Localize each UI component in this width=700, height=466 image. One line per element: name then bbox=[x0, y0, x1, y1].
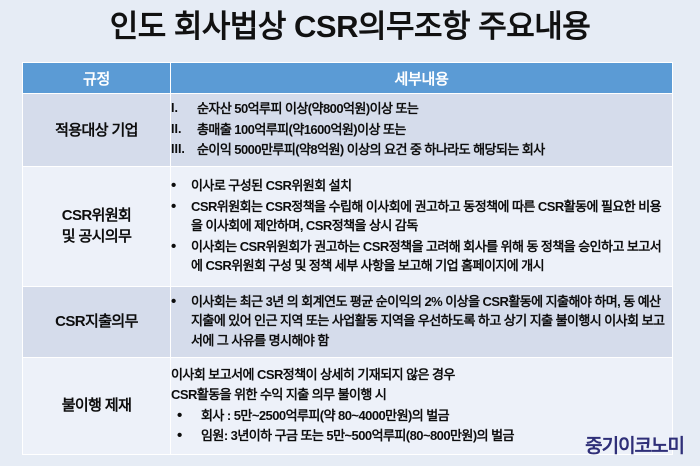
slide-canvas: 인도 회사법상 CSR의무조항 주요내용 규정 세부내용 적용대상 기업 bbox=[0, 0, 700, 466]
column-header-regulation: 규정 bbox=[23, 63, 171, 94]
list-item-text: 순이익 5000만루피(약8억원) 이상의 요건 중 하나라도 해당되는 회사 bbox=[197, 140, 672, 160]
list-marker: II. bbox=[171, 120, 197, 140]
table-row: CSR지출의무 • 이사회는 최근 3년 의 회계연도 평균 순이익의 2% 이… bbox=[23, 286, 673, 357]
row-label-line-2: 및 공시의무 bbox=[62, 228, 132, 245]
bullet-icon: • bbox=[171, 176, 191, 195]
bullet-icon: • bbox=[171, 237, 191, 256]
list-item-text: 총매출 100억루피(약1600억원)이상 또는 bbox=[197, 120, 672, 140]
list-marker: I. bbox=[171, 99, 197, 119]
row-details-csr-committee: • 이사로 구성된 CSR위원회 설치 • CSR위원회는 CSR정책을 수립해… bbox=[171, 167, 673, 286]
list-item-text: 순자산 50억루피 이상(약800억원)이상 또는 bbox=[197, 99, 672, 119]
lead-line-2: CSR활동을 위한 수익 지출 의무 불이행 시 bbox=[171, 385, 672, 405]
list-item: I. 순자산 50억루피 이상(약800억원)이상 또는 bbox=[171, 99, 672, 119]
list-item: • 회사 : 5만~2500억루피(약 80~4000만원)의 벌금 bbox=[171, 406, 672, 426]
bullet-icon: • bbox=[171, 406, 201, 425]
list-item: II. 총매출 100억루피(약1600억원)이상 또는 bbox=[171, 120, 672, 140]
table-row: 적용대상 기업 I. 순자산 50억루피 이상(약800억원)이상 또는 II.… bbox=[23, 94, 673, 167]
bullet-icon: • bbox=[171, 292, 191, 311]
lead-line-1: 이사회 보고서에 CSR정책이 상세히 기재되지 않은 경우 bbox=[171, 365, 672, 385]
list-item: • 이사회는 CSR위원회가 권고하는 CSR정책을 고려해 회사를 위해 동 … bbox=[171, 237, 672, 276]
bullet-icon: • bbox=[171, 426, 201, 445]
table-row: CSR위원회 및 공시의무 • 이사로 구성된 CSR위원회 설치 • CSR위… bbox=[23, 167, 673, 286]
csr-summary-table: 규정 세부내용 적용대상 기업 I. 순자산 50억루피 이상(약800억원)이… bbox=[22, 62, 673, 455]
table-row: 불이행 제재 이사회 보고서에 CSR정책이 상세히 기재되지 않은 경우 CS… bbox=[23, 357, 673, 454]
list-marker: III. bbox=[171, 140, 197, 160]
row-label-noncompliance-sanctions: 불이행 제재 bbox=[23, 357, 171, 454]
roman-list: I. 순자산 50억루피 이상(약800억원)이상 또는 II. 총매출 100… bbox=[171, 99, 672, 160]
list-item: III. 순이익 5000만루피(약8억원) 이상의 요건 중 하나라도 해당되… bbox=[171, 140, 672, 160]
row-label-csr-spending-obligation: CSR지출의무 bbox=[23, 286, 171, 357]
csr-table-container: 규정 세부내용 적용대상 기업 I. 순자산 50억루피 이상(약800억원)이… bbox=[22, 62, 672, 455]
publisher-watermark: 중기이코노미 bbox=[585, 436, 684, 458]
row-label-line-1: CSR위원회 bbox=[62, 207, 131, 224]
page-title: 인도 회사법상 CSR의무조항 주요내용 bbox=[0, 4, 700, 50]
column-header-details: 세부내용 bbox=[171, 63, 673, 94]
list-item: • CSR위원회는 CSR정책을 수립해 이사회에 권고하고 동정책에 따른 C… bbox=[171, 197, 672, 236]
list-item-text: 회사 : 5만~2500억루피(약 80~4000만원)의 벌금 bbox=[201, 406, 672, 426]
row-label-applicable-companies: 적용대상 기업 bbox=[23, 94, 171, 167]
list-item: • 이사로 구성된 CSR위원회 설치 bbox=[171, 176, 672, 196]
row-label-csr-committee: CSR위원회 및 공시의무 bbox=[23, 167, 171, 286]
list-item: • 이사회는 최근 3년 의 회계연도 평균 순이익의 2% 이상을 CSR활동… bbox=[171, 292, 672, 351]
list-item-text: 이사회는 최근 3년 의 회계연도 평균 순이익의 2% 이상을 CSR활동에 … bbox=[191, 292, 672, 351]
table-header: 규정 세부내용 bbox=[23, 63, 673, 94]
row-details-applicable-companies: I. 순자산 50억루피 이상(약800억원)이상 또는 II. 총매출 100… bbox=[171, 94, 673, 167]
bullet-icon: • bbox=[171, 197, 191, 216]
list-item-text: CSR위원회는 CSR정책을 수립해 이사회에 권고하고 동정책에 따른 CSR… bbox=[191, 197, 672, 236]
list-item-text: 이사로 구성된 CSR위원회 설치 bbox=[191, 176, 672, 196]
list-item-text: 이사회는 CSR위원회가 권고하는 CSR정책을 고려해 회사를 위해 동 정책… bbox=[191, 237, 672, 276]
bullet-list: • 이사로 구성된 CSR위원회 설치 • CSR위원회는 CSR정책을 수립해… bbox=[171, 176, 672, 276]
table-body: 적용대상 기업 I. 순자산 50억루피 이상(약800억원)이상 또는 II.… bbox=[23, 94, 673, 455]
row-details-csr-spending-obligation: • 이사회는 최근 3년 의 회계연도 평균 순이익의 2% 이상을 CSR활동… bbox=[171, 286, 673, 357]
table-header-row: 규정 세부내용 bbox=[23, 63, 673, 94]
bullet-list: • 이사회는 최근 3년 의 회계연도 평균 순이익의 2% 이상을 CSR활동… bbox=[171, 292, 672, 351]
